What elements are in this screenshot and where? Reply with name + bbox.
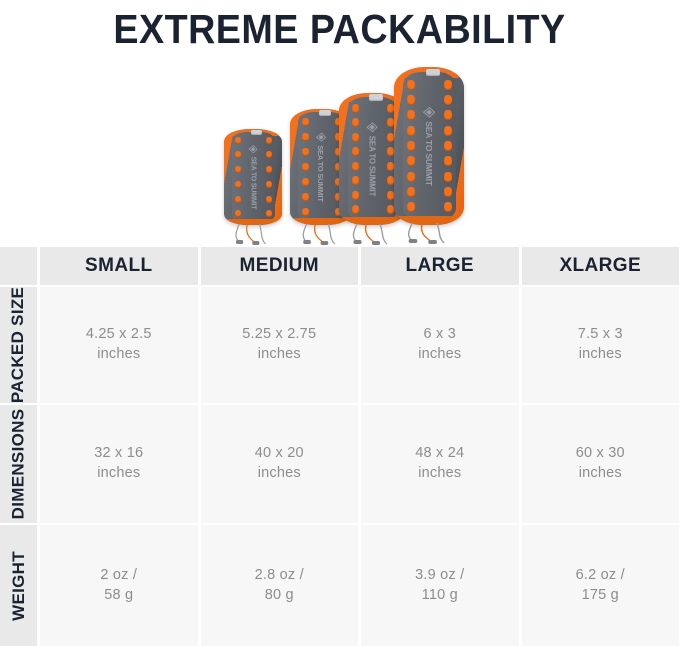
brand-logo-medium: SEA TO SUMMIT: [316, 132, 326, 202]
cell-line-1: 3.9 oz /: [415, 566, 464, 586]
product-image-group: SEA TO SUMMIT: [0, 58, 679, 243]
cell-line-1: 2.8 oz /: [255, 566, 304, 586]
cell-line-2: inches: [418, 464, 461, 484]
table-header-row: SMALL MEDIUM LARGE XLARGE: [0, 247, 679, 285]
cell-line-2: 80 g: [265, 586, 294, 606]
row-label-text: DIMENSIONS: [9, 409, 29, 520]
drawcord-xlarge: [405, 223, 454, 249]
brand-logo-large: SEA TO SUMMIT: [367, 122, 378, 197]
column-header-xlarge: XLARGE: [522, 247, 679, 285]
row-label-packed-size: PACKED SIZE: [0, 287, 37, 403]
pack-body-xlarge: SEA TO SUMMIT: [394, 67, 464, 225]
pack-buckle-icon: [426, 69, 440, 77]
brand-logo-xlarge: SEA TO SUMMIT: [423, 106, 435, 185]
cell-line-1: 32 x 16: [94, 444, 143, 464]
row-label-text: WEIGHT: [9, 551, 29, 621]
cell-line-1: 4.25 x 2.5: [86, 325, 152, 345]
cell-weight-xlarge: 6.2 oz / 175 g: [522, 525, 679, 646]
cell-line-2: 175 g: [582, 586, 619, 606]
row-label-dimensions: DIMENSIONS: [0, 405, 37, 523]
pack-buckle-icon: [319, 110, 331, 116]
cell-line-1: 6.2 oz /: [576, 566, 625, 586]
product-pack-small: SEA TO SUMMIT: [224, 129, 282, 225]
cell-line-1: 2 oz /: [100, 566, 137, 586]
cell-line-2: inches: [258, 345, 301, 365]
cell-line-2: 110 g: [422, 586, 458, 606]
diamond-logo-icon: [316, 132, 326, 142]
drawcord-large: [350, 224, 396, 250]
pack-dash-column-left: [407, 80, 415, 213]
row-label-weight: WEIGHT: [0, 525, 37, 646]
brand-logo-text: SEA TO SUMMIT: [317, 145, 326, 202]
table-row-dimensions: DIMENSIONS 32 x 16 inches 40 x 20 inches…: [0, 405, 679, 523]
cell-packed-size-medium: 5.25 x 2.75 inches: [201, 287, 359, 403]
cell-line-2: 58 g: [104, 586, 133, 606]
pack-dash-column-left: [235, 137, 241, 218]
pack-dash-column-right: [266, 137, 272, 218]
table-row-weight: WEIGHT 2 oz / 58 g 2.8 oz / 80 g 3.9 oz …: [0, 525, 679, 646]
cell-line-2: inches: [579, 345, 622, 365]
brand-logo-text: SEA TO SUMMIT: [368, 136, 377, 197]
cell-line-2: inches: [579, 464, 622, 484]
pack-dash-column-right: [387, 104, 394, 215]
brand-logo-text: SEA TO SUMMIT: [424, 121, 434, 185]
cell-line-1: 7.5 x 3: [578, 325, 623, 345]
drawcord-medium: [300, 224, 343, 250]
column-header-large: LARGE: [361, 247, 519, 285]
pack-dash-column-right: [444, 80, 452, 213]
diamond-logo-icon: [423, 106, 435, 118]
cell-dimensions-medium: 40 x 20 inches: [201, 405, 359, 523]
diamond-logo-icon: [249, 145, 258, 154]
cell-line-2: inches: [97, 464, 140, 484]
cell-line-2: inches: [418, 345, 461, 365]
cell-line-1: 5.25 x 2.75: [242, 325, 316, 345]
cell-dimensions-large: 48 x 24 inches: [361, 405, 519, 523]
row-label-text: PACKED SIZE: [9, 287, 29, 403]
pack-dash-column-left: [352, 104, 359, 215]
pack-body-small: SEA TO SUMMIT: [224, 129, 282, 225]
brand-logo-small: SEA TO SUMMIT: [249, 145, 258, 210]
table-row-packed-size: PACKED SIZE 4.25 x 2.5 inches 5.25 x 2.7…: [0, 287, 679, 403]
cell-weight-small: 2 oz / 58 g: [40, 525, 198, 646]
product-pack-xlarge: SEA TO SUMMIT: [394, 67, 464, 225]
page-title: EXTREME PACKABILITY: [27, 0, 652, 58]
cell-line-1: 48 x 24: [415, 444, 464, 464]
cell-dimensions-xlarge: 60 x 30 inches: [522, 405, 679, 523]
specs-table: SMALL MEDIUM LARGE XLARGE PACKED SIZE 4.…: [0, 247, 679, 646]
column-header-small: SMALL: [40, 247, 198, 285]
pack-buckle-icon: [369, 94, 382, 101]
cell-packed-size-xlarge: 7.5 x 3 inches: [522, 287, 679, 403]
diamond-logo-icon: [367, 122, 378, 133]
cell-line-2: inches: [258, 464, 301, 484]
pack-buckle-icon: [251, 130, 263, 135]
cell-dimensions-small: 32 x 16 inches: [40, 405, 198, 523]
cell-line-1: 60 x 30: [576, 444, 625, 464]
cell-packed-size-large: 6 x 3 inches: [361, 287, 519, 403]
cell-line-2: inches: [97, 345, 140, 365]
cell-weight-medium: 2.8 oz / 80 g: [201, 525, 359, 646]
column-header-medium: MEDIUM: [201, 247, 359, 285]
cell-weight-large: 3.9 oz / 110 g: [361, 525, 519, 646]
table-corner-cell: [0, 247, 37, 285]
cell-packed-size-small: 4.25 x 2.5 inches: [40, 287, 198, 403]
cell-line-1: 6 x 3: [424, 325, 456, 345]
brand-logo-text: SEA TO SUMMIT: [250, 157, 257, 210]
cell-line-1: 40 x 20: [255, 444, 304, 464]
pack-dash-column-left: [302, 118, 309, 215]
